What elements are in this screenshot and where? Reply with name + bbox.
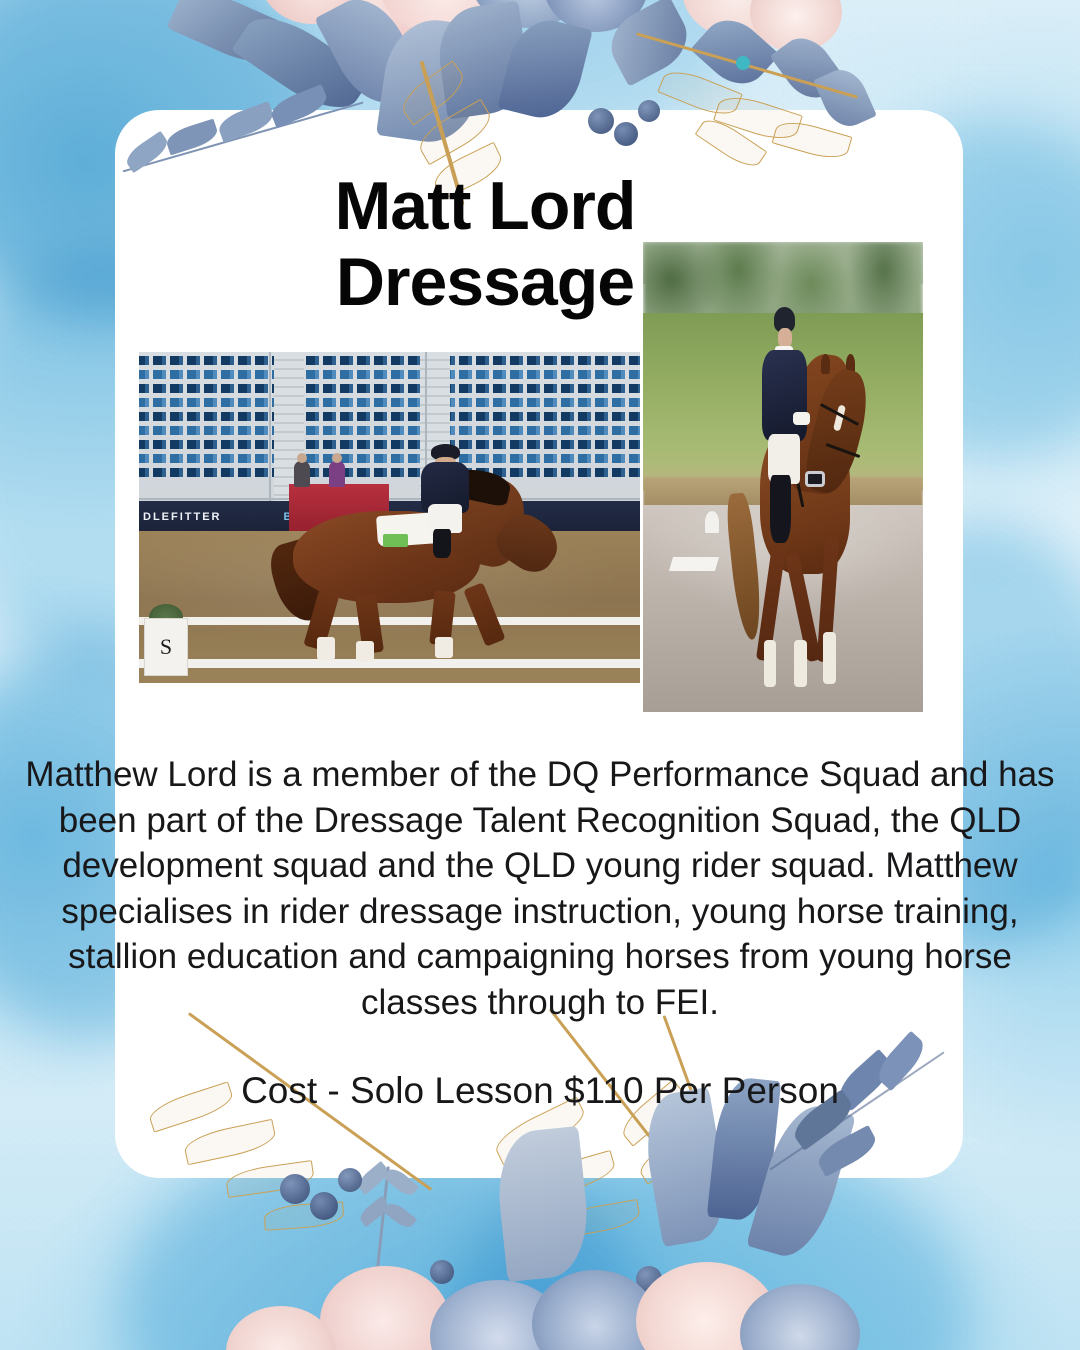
horse-sock <box>823 632 836 683</box>
horse-sock <box>356 641 374 662</box>
rider-arena <box>414 438 480 549</box>
horse-ear <box>821 354 830 374</box>
poster-canvas: DLEFITTER BI AN ADDLEFITTER S <box>0 0 1080 1350</box>
saddle-pad-logo <box>383 534 407 547</box>
riding-glove <box>793 412 810 425</box>
horse-sock <box>435 637 453 658</box>
bio-paragraph: Matthew Lord is a member of the DQ Perfo… <box>0 752 1080 1025</box>
riding-boot <box>770 475 792 543</box>
horse-sock <box>794 640 807 688</box>
photo-arena: DLEFITTER BI AN ADDLEFITTER S <box>139 352 640 683</box>
rider-face <box>778 328 792 348</box>
horse-and-rider-arena <box>269 465 570 657</box>
rider-portrait <box>750 303 822 530</box>
horse-sock <box>317 637 335 660</box>
page-title: Matt Lord Dressage <box>115 168 855 320</box>
arena-fence <box>139 659 640 668</box>
stirrup-icon <box>805 471 825 487</box>
cost-line: Cost - Solo Lesson $110 Per Person <box>0 1068 1080 1114</box>
banner-text-left: DLEFITTER <box>143 511 222 523</box>
horse-and-rider-portrait <box>710 317 889 684</box>
riding-boot <box>433 529 450 558</box>
rider-jacket <box>762 350 806 441</box>
arena-marker-s: S <box>144 618 188 676</box>
horse-sock <box>764 640 777 688</box>
horse-leg <box>463 582 506 647</box>
